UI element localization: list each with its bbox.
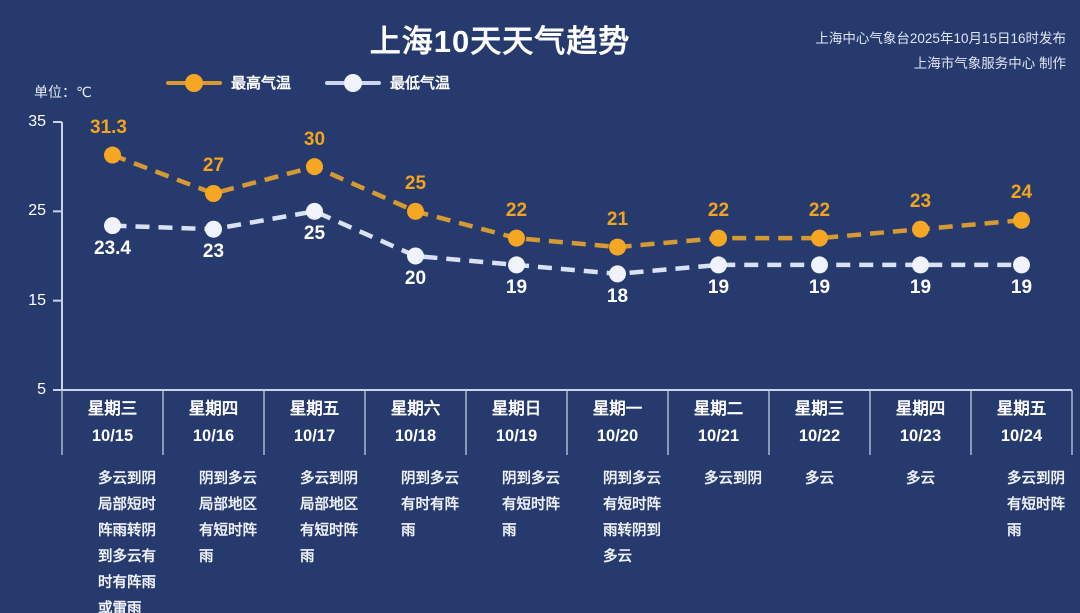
weather-description: 多云到阴局部地区有短时阵雨 [300,466,371,570]
y-axis-tick-label: 5 [6,381,46,399]
legend-item-high: 最高气温 [166,72,291,93]
legend-label-high: 最高气温 [231,72,291,93]
circle-marker-icon [166,74,222,92]
date-label: 10/17 [264,423,365,450]
circle-marker-icon [325,74,381,92]
weather-description: 阴到多云有时有阵雨 [401,466,472,544]
high-temp-value-label: 23 [910,191,931,213]
date-label: 10/22 [769,423,870,450]
low-temp-value-label: 19 [910,277,931,299]
weekday-label: 星期四 [870,396,971,423]
weather-trend-chart: 上海10天天气趋势 上海中心气象台2025年10月15日16时发布 上海市气象服… [0,0,1080,613]
low-temp-value-label: 19 [506,277,527,299]
high-temp-value-label: 30 [304,129,325,151]
date-column-header: 星期日10/19 [466,396,567,454]
date-column-header: 星期四10/23 [870,396,971,454]
weekday-label: 星期五 [971,396,1072,423]
y-axis-tick-label: 15 [6,292,46,310]
issuer-info: 上海中心气象台2025年10月15日16时发布 上海市气象服务中心 制作 [815,26,1066,76]
high-temp-value-label: 22 [809,200,830,222]
weekday-label: 星期五 [264,396,365,423]
produced-by-text: 上海市气象服务中心 制作 [815,51,1066,76]
weekday-label: 星期三 [769,396,870,423]
weather-description: 阴到多云有短时阵雨转阴到多云 [603,466,674,570]
weather-description: 多云到阴局部短时阵雨转阴到多云有时有阵雨或雷雨 [98,466,169,613]
date-label: 10/20 [567,423,668,450]
date-label: 10/15 [62,423,163,450]
weekday-label: 星期日 [466,396,567,423]
issued-by-text: 上海中心气象台2025年10月15日16时发布 [815,26,1066,51]
legend-label-low: 最低气温 [390,72,450,93]
high-temp-value-label: 25 [405,173,426,195]
weekday-label: 星期一 [567,396,668,423]
date-label: 10/23 [870,423,971,450]
high-temp-value-label: 21 [607,209,628,231]
date-column-header: 星期五10/17 [264,396,365,454]
weekday-label: 星期三 [62,396,163,423]
high-temp-value-label: 27 [203,155,224,177]
legend-item-low: 最低气温 [325,72,450,93]
weather-description: 阴到多云有短时阵雨 [502,466,573,544]
date-label: 10/21 [668,423,769,450]
low-temp-value-label: 19 [708,277,729,299]
date-column-header: 星期六10/18 [365,396,466,454]
weather-description: 多云 [805,466,876,492]
date-column-header: 星期三10/15 [62,396,163,454]
low-temp-value-label: 18 [607,286,628,308]
date-column-header: 星期二10/21 [668,396,769,454]
high-temp-value-label: 22 [506,200,527,222]
date-label: 10/24 [971,423,1072,450]
high-temp-value-label: 22 [708,200,729,222]
low-temp-value-label: 23.4 [94,238,131,260]
chart-legend: 最高气温 最低气温 [166,72,450,93]
weekday-label: 星期六 [365,396,466,423]
date-column-header: 星期五10/24 [971,396,1072,454]
date-label: 10/18 [365,423,466,450]
low-temp-value-label: 23 [203,241,224,263]
date-label: 10/16 [163,423,264,450]
weekday-label: 星期四 [163,396,264,423]
high-temp-value-label: 24 [1011,182,1032,204]
date-column-header: 星期四10/16 [163,396,264,454]
weather-description: 多云 [906,466,977,492]
low-temp-value-label: 19 [1011,277,1032,299]
weather-description: 多云到阴有短时阵雨 [1007,466,1078,544]
y-axis-tick-label: 35 [6,113,46,131]
low-temp-value-label: 25 [304,223,325,245]
date-column-header: 星期一10/20 [567,396,668,454]
low-temp-value-label: 20 [405,268,426,290]
high-temp-value-label: 31.3 [90,117,127,139]
date-label: 10/19 [466,423,567,450]
weekday-label: 星期二 [668,396,769,423]
unit-label: 单位：℃ [34,82,92,102]
low-temp-value-label: 19 [809,277,830,299]
date-column-header: 星期三10/22 [769,396,870,454]
weather-description: 多云到阴 [704,466,775,492]
y-axis-tick-label: 25 [6,202,46,220]
weather-description: 阴到多云局部地区有短时阵雨 [199,466,270,570]
